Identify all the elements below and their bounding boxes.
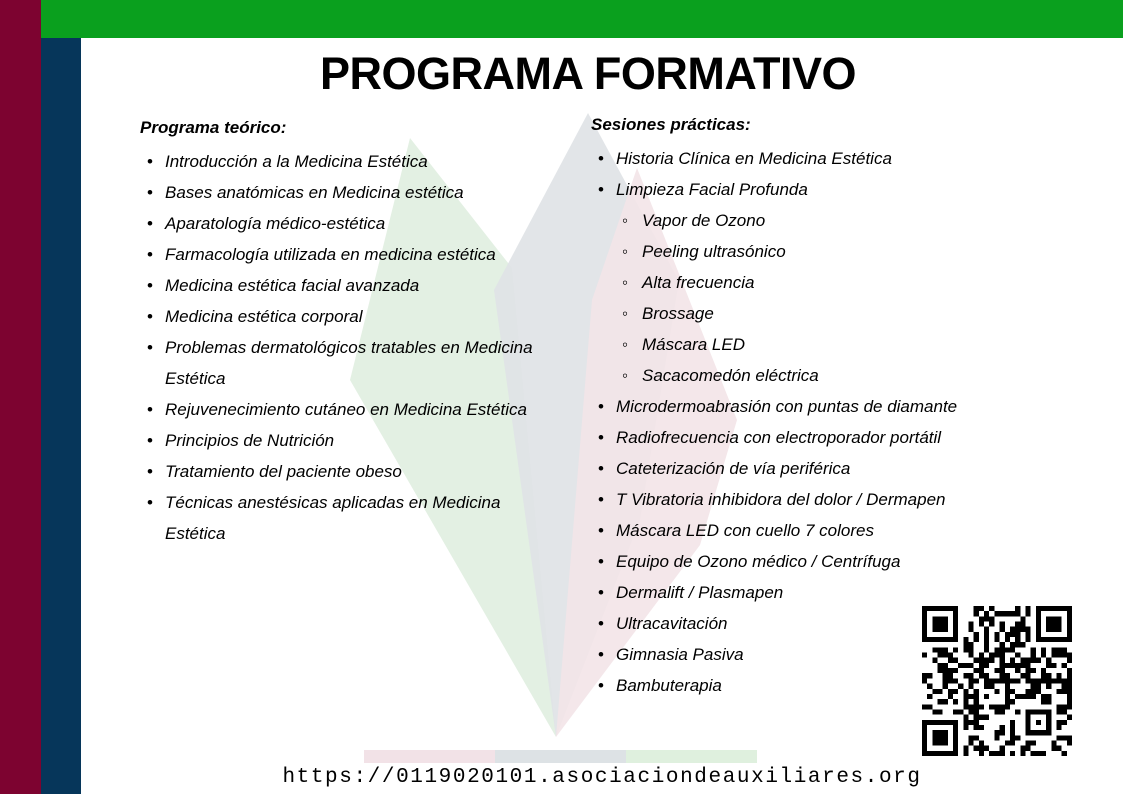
list-item: Principios de Nutrición: [140, 425, 560, 456]
list-item: Cateterización de vía periférica: [591, 453, 1021, 484]
list-item: Historia Clínica en Medicina Estética: [591, 143, 1021, 174]
list-item: Técnicas anestésicas aplicadas en Medici…: [140, 487, 560, 549]
sub-list-item: Máscara LED: [616, 329, 1021, 360]
left-maroon-bar: [0, 0, 41, 794]
list-item-label: Principios de Nutrición: [165, 431, 334, 450]
list-item: Farmacología utilizada en medicina estét…: [140, 239, 560, 270]
list-item-label: Ultracavitación: [616, 614, 728, 633]
list-item-label: Radiofrecuencia con electroporador portá…: [616, 428, 941, 447]
sub-list-item: Peeling ultrasónico: [616, 236, 1021, 267]
list-item: Medicina estética corporal: [140, 301, 560, 332]
list-item-label: Técnicas anestésicas aplicadas en Medici…: [165, 493, 500, 543]
list-item-label: Microdermoabrasión con puntas de diamant…: [616, 397, 957, 416]
sub-list-item: Sacacomedón eléctrica: [616, 360, 1021, 391]
practice-heading: Sesiones prácticas:: [591, 115, 1021, 135]
list-item-label: T Vibratoria inhibidora del dolor / Derm…: [616, 490, 945, 509]
list-item: Radiofrecuencia con electroporador portá…: [591, 422, 1021, 453]
list-item-label: Tratamiento del paciente obeso: [165, 462, 402, 481]
list-item: Equipo de Ozono médico / Centrífuga: [591, 546, 1021, 577]
sub-list-item: Vapor de Ozono: [616, 205, 1021, 236]
list-item-label: Historia Clínica en Medicina Estética: [616, 149, 892, 168]
list-item: Dermalift / Plasmapen: [591, 577, 1021, 608]
top-green-bar: [41, 0, 1123, 38]
sub-list-item: Alta frecuencia: [616, 267, 1021, 298]
list-item: Medicina estética facial avanzada: [140, 270, 560, 301]
list-item: Limpieza Facial ProfundaVapor de OzonoPe…: [591, 174, 1021, 391]
list-item-label: Medicina estética facial avanzada: [165, 276, 419, 295]
list-item-label: Gimnasia Pasiva: [616, 645, 744, 664]
theory-heading: Programa teórico:: [140, 118, 560, 138]
slide-canvas: PROGRAMA FORMATIVO Programa teórico: Int…: [0, 0, 1123, 794]
list-item-label: Medicina estética corporal: [165, 307, 362, 326]
sub-list: Vapor de OzonoPeeling ultrasónicoAlta fr…: [616, 205, 1021, 391]
list-item: Problemas dermatológicos tratables en Me…: [140, 332, 560, 394]
list-item: Microdermoabrasión con puntas de diamant…: [591, 391, 1021, 422]
qr-code-image: [922, 606, 1072, 756]
list-item-label: Bases anatómicas en Medicina estética: [165, 183, 464, 202]
list-item-label: Introducción a la Medicina Estética: [165, 152, 428, 171]
list-item: Tratamiento del paciente obeso: [140, 456, 560, 487]
list-item: Rejuvenecimiento cutáneo en Medicina Est…: [140, 394, 560, 425]
left-navy-bar: [41, 38, 81, 794]
theory-list: Introducción a la Medicina EstéticaBases…: [140, 146, 560, 549]
footer-url[interactable]: https://0119020101.asociaciondeauxiliare…: [81, 766, 1123, 789]
list-item: Máscara LED con cuello 7 colores: [591, 515, 1021, 546]
list-item: Bases anatómicas en Medicina estética: [140, 177, 560, 208]
list-item-label: Problemas dermatológicos tratables en Me…: [165, 338, 533, 388]
page-title: PROGRAMA FORMATIVO: [81, 49, 1095, 99]
qr-code[interactable]: [922, 606, 1072, 756]
footer-color-bar: [364, 750, 757, 763]
list-item: Introducción a la Medicina Estética: [140, 146, 560, 177]
footer-bar-segment: [364, 750, 495, 763]
list-item: Aparatología médico-estética: [140, 208, 560, 239]
list-item-label: Dermalift / Plasmapen: [616, 583, 783, 602]
theory-column: Programa teórico: Introducción a la Medi…: [140, 118, 560, 549]
footer-bar-segment: [626, 750, 757, 763]
list-item: T Vibratoria inhibidora del dolor / Derm…: [591, 484, 1021, 515]
list-item-label: Limpieza Facial Profunda: [616, 180, 808, 199]
sub-list-item: Brossage: [616, 298, 1021, 329]
list-item-label: Bambuterapia: [616, 676, 722, 695]
list-item-label: Cateterización de vía periférica: [616, 459, 850, 478]
list-item-label: Rejuvenecimiento cutáneo en Medicina Est…: [165, 400, 527, 419]
list-item-label: Aparatología médico-estética: [165, 214, 385, 233]
footer-bar-segment: [495, 750, 626, 763]
list-item-label: Máscara LED con cuello 7 colores: [616, 521, 874, 540]
list-item-label: Equipo de Ozono médico / Centrífuga: [616, 552, 900, 571]
list-item-label: Farmacología utilizada en medicina estét…: [165, 245, 496, 264]
